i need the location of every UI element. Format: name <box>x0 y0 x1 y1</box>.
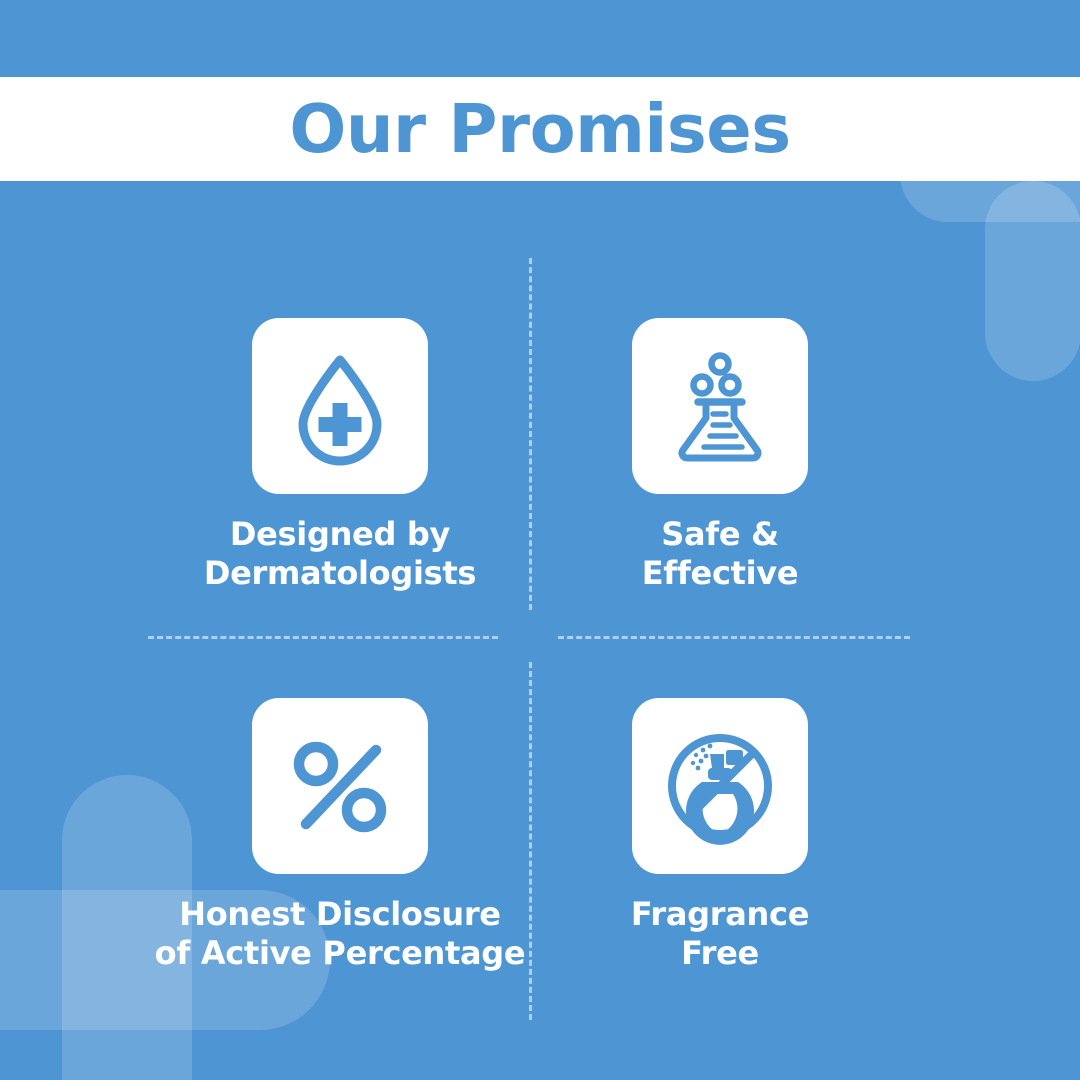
water-drop-plus-icon <box>280 346 400 466</box>
promise-item-fragrance-free: Fragrance Free <box>490 698 950 973</box>
promise-item-safe-and-effective: Safe & Effective <box>490 318 950 593</box>
promise-icon-card <box>632 318 808 494</box>
promise-label: Safe & Effective <box>642 515 799 593</box>
no-fragrance-bottle-icon <box>658 724 782 848</box>
promise-label: Designed by Dermatologists <box>204 515 476 593</box>
promises-poster: Our Promises Designed by Dermatologists <box>0 0 1080 1080</box>
percent-icon <box>280 726 400 846</box>
promise-label: Honest Disclosure of Active Percentage <box>155 895 526 973</box>
promises-grid: Designed by Dermatologists <box>0 181 1080 1080</box>
promise-icon-card <box>632 698 808 874</box>
promise-icon-card <box>252 318 428 494</box>
promise-label: Fragrance Free <box>631 895 809 973</box>
page-title: Our Promises <box>289 96 790 163</box>
erlenmeyer-flask-icon <box>660 346 780 466</box>
promise-icon-card <box>252 698 428 874</box>
header-banner: Our Promises <box>0 77 1080 181</box>
